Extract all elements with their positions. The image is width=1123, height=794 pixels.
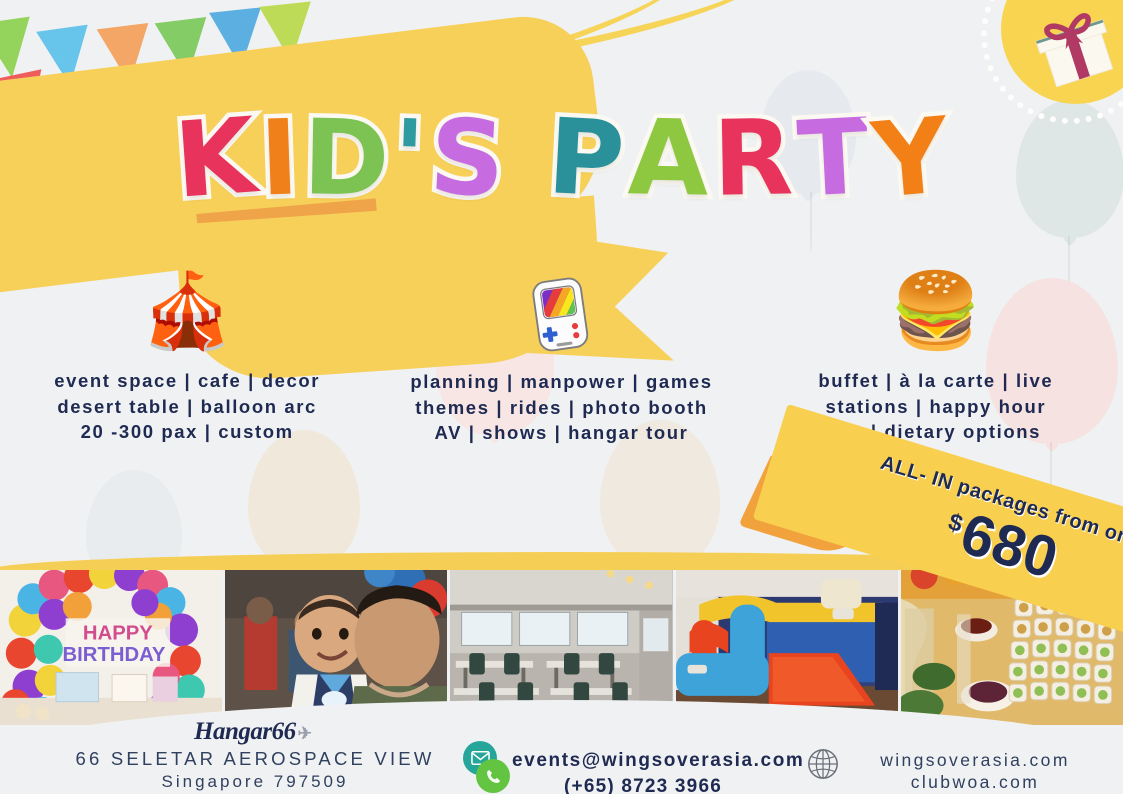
hangar66-logo-text: Hangar66 bbox=[194, 718, 296, 745]
title-letter-d: D bbox=[302, 105, 390, 210]
title-letter-s: S bbox=[427, 104, 507, 212]
airplane-icon: ✈ bbox=[298, 724, 312, 743]
title-letter-r: R bbox=[712, 105, 794, 210]
activities-line-2: themes | rides | photo booth bbox=[374, 395, 748, 421]
activities-line-3: AV | shows | hangar tour bbox=[374, 420, 748, 446]
title-letter-k: K bbox=[171, 103, 259, 212]
feature-column-venue: 🎪 event space | cafe | decor desert tabl… bbox=[0, 268, 374, 446]
title-letter-t: T bbox=[795, 104, 871, 212]
hangar66-logo: Hangar66✈ bbox=[194, 718, 311, 746]
bouncy-castle-photo bbox=[676, 560, 901, 725]
website-secondary[interactable]: clubwoa.com bbox=[850, 772, 1100, 793]
email-address[interactable]: events@wingsoverasia.com bbox=[512, 750, 804, 772]
page-title: K I D ' S P A R T Y bbox=[0, 106, 1123, 210]
title-letter-i: I bbox=[258, 105, 300, 210]
phone-handset-icon[interactable] bbox=[476, 759, 510, 793]
title-letter-y: Y bbox=[869, 103, 953, 213]
address-line-2: Singapore 797509 bbox=[20, 772, 490, 792]
feature-column-activities: planning | manpower | games themes | rid… bbox=[374, 268, 748, 446]
venue-feature-list: event space | cafe | decor desert table … bbox=[0, 368, 374, 445]
venue-line-3: 20 -300 pax | custom bbox=[0, 419, 374, 445]
phone-number[interactable]: (+65) 8723 3966 bbox=[512, 776, 774, 794]
website-primary[interactable]: wingsoverasia.com bbox=[850, 750, 1100, 771]
title-apostrophe: ' bbox=[392, 105, 427, 210]
venue-line-1: event space | cafe | decor bbox=[0, 368, 374, 394]
handheld-game-console-icon bbox=[374, 268, 748, 355]
title-letter-a: A bbox=[627, 105, 709, 210]
hamburger-icon: 🍔 bbox=[749, 268, 1123, 354]
food-line-1: buffet | à la carte | live bbox=[749, 368, 1123, 394]
activities-feature-list: planning | manpower | games themes | rid… bbox=[374, 369, 748, 446]
child-and-adult-photo bbox=[225, 560, 450, 725]
circus-tent-icon: 🎪 bbox=[0, 268, 374, 354]
feature-columns: 🎪 event space | cafe | decor desert tabl… bbox=[0, 268, 1123, 446]
svg-text:HAPPY: HAPPY bbox=[83, 623, 153, 645]
kids-party-poster: K I D ' S P A R T Y 🎪 event space | cafe… bbox=[0, 0, 1123, 794]
gift-box-icon bbox=[1029, 2, 1121, 94]
venue-line-2: desert table | balloon arc bbox=[0, 394, 374, 420]
address-line-1: 66 SELETAR AEROSPACE VIEW bbox=[20, 748, 490, 770]
globe-icon bbox=[806, 747, 840, 781]
balloon-arch-happy-birthday-photo: HAPPY BIRTHDAY bbox=[0, 560, 225, 725]
title-letter-p: P bbox=[545, 104, 627, 212]
svg-text:BIRTHDAY: BIRTHDAY bbox=[63, 644, 166, 666]
activities-line-1: planning | manpower | games bbox=[374, 369, 748, 395]
background-balloon bbox=[248, 430, 360, 572]
footer: Hangar66✈ 66 SELETAR AEROSPACE VIEW Sing… bbox=[0, 714, 1123, 794]
